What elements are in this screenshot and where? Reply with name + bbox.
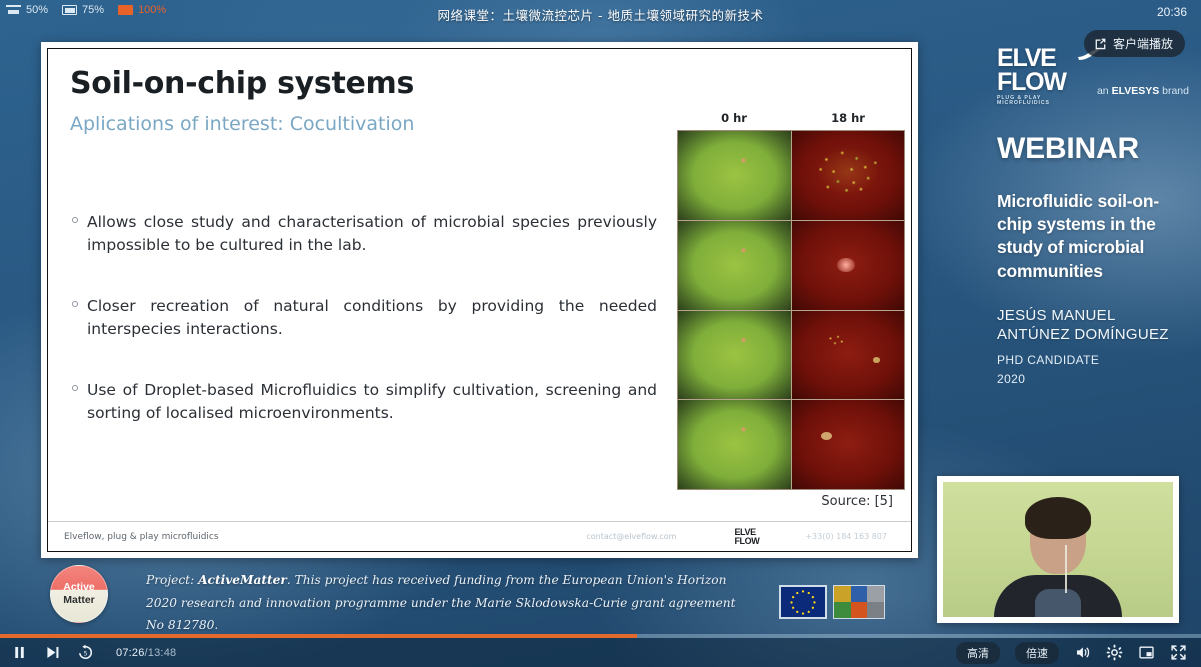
- player-controls-right: 高清 倍速: [956, 642, 1201, 664]
- figure-cell-18hr-row1: [792, 131, 905, 220]
- slide-bullet-list: Allows close study and characterisation …: [72, 211, 657, 463]
- bullet-circle-icon: [72, 385, 78, 391]
- speaker-role: PHD CANDIDATE: [997, 353, 1189, 367]
- figure-cell-0hr-row4: [678, 400, 791, 489]
- elveflow-logo-line1: ELVE: [997, 47, 1089, 71]
- total-time: 13:48: [148, 647, 177, 659]
- open-in-client-label: 客户端播放: [1113, 35, 1173, 52]
- webcam-video: [943, 482, 1173, 617]
- list-item: Use of Droplet-based Microfluidics to si…: [72, 379, 657, 425]
- funding-text-prefix: Project:: [146, 573, 198, 587]
- playback-speed-button[interactable]: 倍速: [1015, 642, 1059, 664]
- figure-cell-0hr-row2: [678, 221, 791, 310]
- page-title: 网络课堂：土壤微流控芯片 - 地质土壤领域研究的新技术: [0, 5, 1201, 24]
- funding-text: Project: ActiveMatter. This project has …: [146, 569, 746, 637]
- player-controls-left: 5 07:26/13:48: [0, 644, 176, 661]
- slide-footer: Elveflow, plug & play microfluidics cont…: [48, 521, 911, 551]
- list-item: Allows close study and characterisation …: [72, 211, 657, 257]
- msca-tile-6: [867, 602, 884, 618]
- msca-tile-5: [851, 602, 868, 618]
- figure-image-grid: [677, 130, 905, 490]
- bullet-text: Use of Droplet-based Microfluidics to si…: [87, 379, 657, 425]
- figure-header-0hr: 0 hr: [677, 111, 791, 125]
- slide-footer-phone: +33(0) 184 163 807: [805, 532, 887, 541]
- figure-cell-18hr-row4: [792, 400, 905, 489]
- bullet-text: Allows close study and characterisation …: [87, 211, 657, 257]
- open-in-client-button[interactable]: 客户端播放: [1084, 30, 1185, 57]
- next-track-icon[interactable]: [44, 644, 61, 661]
- figure-source: Source: [5]: [821, 494, 893, 509]
- quality-pill-button[interactable]: 高清: [956, 642, 1000, 664]
- brand-name: ELVESYS: [1112, 85, 1160, 97]
- slide-title: Soil-on-chip systems: [70, 67, 889, 100]
- webinar-label: WEBINAR: [997, 132, 1189, 166]
- slide-footer-tagline: Elveflow, plug & play microfluidics: [64, 532, 219, 542]
- figure-cell-0hr-row1: [678, 131, 791, 220]
- figure-header-18hr: 18 hr: [791, 111, 905, 125]
- msca-tile-1: [834, 586, 851, 602]
- msca-tile-2: [851, 586, 868, 602]
- bullet-text: Closer recreation of natural conditions …: [87, 295, 657, 341]
- slide-footer-email: contact@elveflow.com: [586, 532, 676, 541]
- pause-icon[interactable]: [11, 644, 28, 661]
- bullet-circle-icon: [72, 301, 78, 307]
- svg-text:5: 5: [84, 650, 88, 657]
- slide-content: Soil-on-chip systems Aplications of inte…: [47, 48, 912, 552]
- timecode: 07:26/13:48: [116, 647, 176, 659]
- figure-cell-18hr-row2: [792, 221, 905, 310]
- msca-tile-3: [867, 586, 884, 602]
- elveflow-tagline: PLUG & PLAY MICROFLUIDICS: [997, 96, 1089, 106]
- list-item: Closer recreation of natural conditions …: [72, 295, 657, 341]
- picture-in-picture-icon[interactable]: [1138, 644, 1155, 661]
- external-link-icon: [1094, 37, 1107, 50]
- presenter-webcam[interactable]: [937, 476, 1179, 623]
- slide-footer-logo-line2: FLOW: [734, 537, 759, 546]
- eu-flag-icon: [779, 585, 827, 619]
- volume-icon[interactable]: [1074, 644, 1091, 661]
- elveflow-logo-line2: FLOW: [997, 71, 1089, 95]
- microscopy-figure: 0 hr 18 hr: [677, 111, 905, 490]
- slide-footer-logo: ELVE FLOW: [734, 528, 759, 545]
- figure-column-headers: 0 hr 18 hr: [677, 111, 905, 125]
- player-control-bar: 5 07:26/13:48 高清 倍速: [0, 638, 1201, 667]
- elveflow-wordmark: ELVE FLOW PLUG & PLAY MICROFLUIDICS: [997, 47, 1089, 106]
- msca-tile-4: [834, 602, 851, 618]
- current-time: 07:26: [116, 647, 145, 659]
- funding-project-name: ActiveMatter: [198, 573, 287, 587]
- activematter-logo: Active Matter: [50, 565, 108, 623]
- figure-cell-18hr-row3: [792, 311, 905, 400]
- fullscreen-icon[interactable]: [1170, 644, 1187, 661]
- replay-icon[interactable]: 5: [77, 644, 94, 661]
- eu-stars-icon: [781, 587, 825, 617]
- elvesys-brand-line: an ELVESYS brand: [1097, 85, 1189, 106]
- speaker-name: JESÚS MANUEL ANTÚNEZ DOMÍNGUEZ: [997, 307, 1189, 345]
- gear-icon[interactable]: [1106, 644, 1123, 661]
- presenter-shirt: [1035, 589, 1081, 617]
- video-player-page: 50% 75% 100% 网络课堂：土壤微流控芯片 - 地质土壤领域研究的新技术…: [0, 0, 1201, 667]
- brand-suffix: brand: [1159, 85, 1189, 97]
- activematter-logo-line1: Active: [63, 581, 95, 594]
- brand-prefix: an: [1097, 85, 1112, 97]
- top-bar: 50% 75% 100% 网络课堂：土壤微流控芯片 - 地质土壤领域研究的新技术…: [0, 0, 1201, 27]
- system-clock: 20:36: [1157, 5, 1187, 19]
- presentation-slide: Soil-on-chip systems Aplications of inte…: [41, 42, 918, 558]
- bullet-circle-icon: [72, 217, 78, 223]
- activematter-logo-line2: Matter: [63, 594, 95, 607]
- webinar-year: 2020: [997, 372, 1189, 386]
- figure-cell-0hr-row3: [678, 311, 791, 400]
- earphone-cord: [1065, 545, 1067, 593]
- presenter-hair: [1025, 497, 1091, 539]
- webinar-title: Microfluidic soil-on-chip systems in the…: [997, 190, 1189, 283]
- marie-curie-actions-logo: [833, 585, 885, 619]
